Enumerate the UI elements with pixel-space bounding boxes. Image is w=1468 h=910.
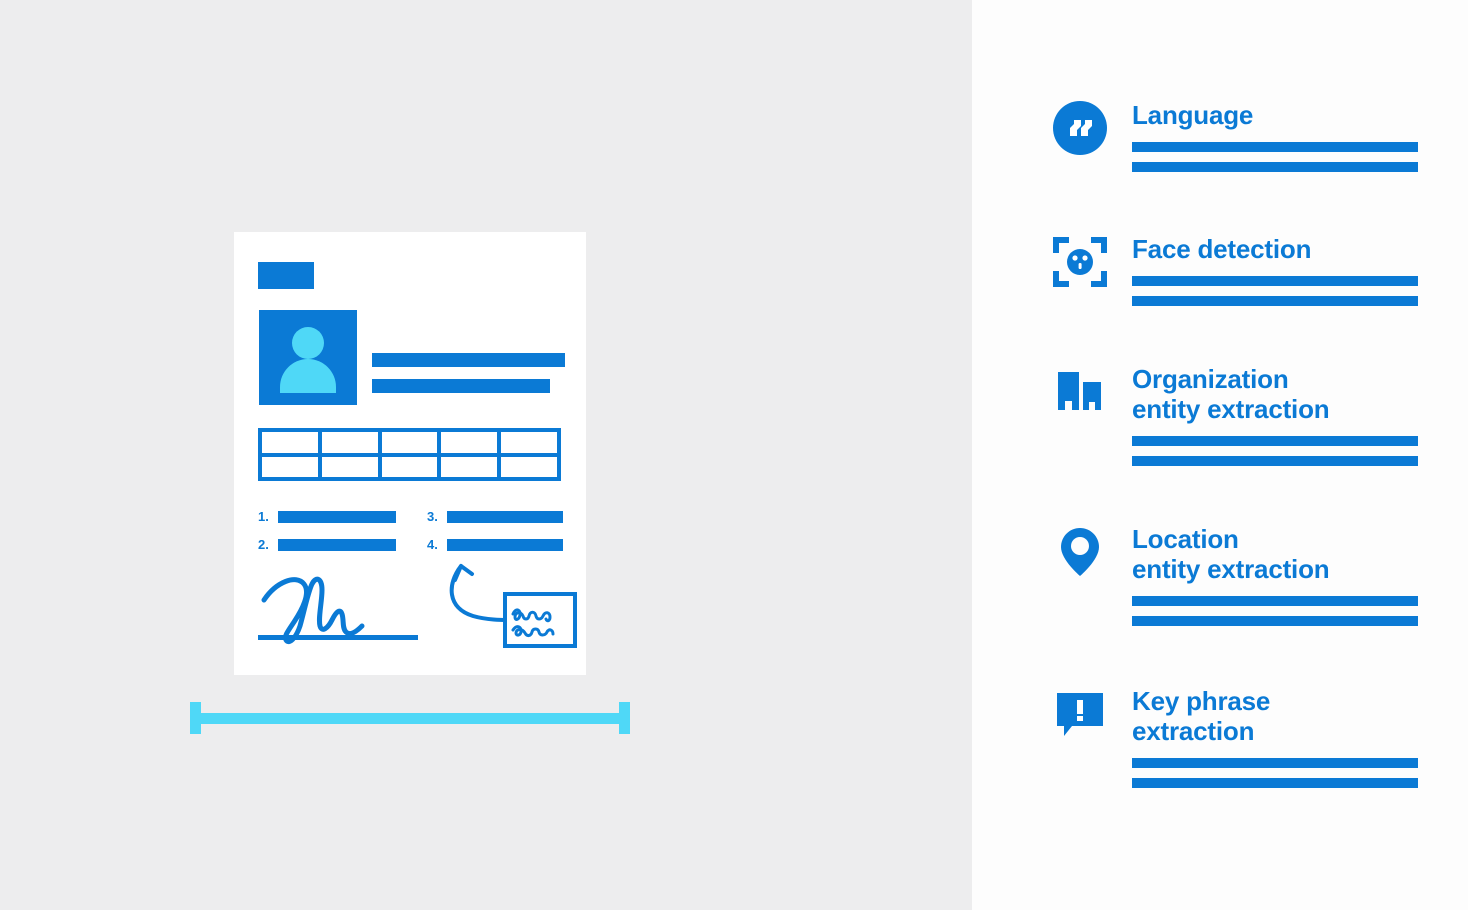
feature-line xyxy=(1132,436,1418,446)
feature-line xyxy=(1132,456,1418,466)
numbered-item-bar xyxy=(278,511,396,523)
numbered-item-bar xyxy=(278,539,396,551)
table-cell xyxy=(262,457,318,478)
table-cell xyxy=(441,457,497,478)
handwriting-stamp-icon xyxy=(439,550,579,660)
feature-body: Key phrase extraction xyxy=(1132,686,1422,788)
feature-placeholder-lines xyxy=(1132,276,1422,306)
numbered-item-3: 3. xyxy=(427,510,563,523)
table-cell xyxy=(441,432,497,453)
speech-bubble-exclamation-icon xyxy=(1052,686,1108,742)
feature-placeholder-lines xyxy=(1132,596,1422,626)
feature-line xyxy=(1132,778,1418,788)
quotation-marks-circle-icon xyxy=(1052,100,1108,156)
table-cell xyxy=(501,432,557,453)
signature-baseline xyxy=(258,635,418,640)
feature-line xyxy=(1132,616,1418,626)
feature-title: Organization entity extraction xyxy=(1132,364,1422,424)
feature-body: Organization entity extraction xyxy=(1132,364,1422,466)
feature-title: Face detection xyxy=(1132,234,1422,264)
feature-placeholder-lines xyxy=(1132,436,1422,466)
table-cell xyxy=(501,457,557,478)
numbered-item-label: 2. xyxy=(258,538,278,551)
feature-line xyxy=(1132,276,1418,286)
table-cell xyxy=(382,457,438,478)
document-name-line-2 xyxy=(372,379,550,393)
feature-line xyxy=(1132,758,1418,768)
feature-placeholder-lines xyxy=(1132,142,1422,172)
measure-cap-right xyxy=(619,702,630,734)
buildings-icon xyxy=(1052,364,1108,420)
document-table xyxy=(258,428,561,481)
feature-line xyxy=(1132,596,1418,606)
map-pin-icon xyxy=(1052,524,1108,580)
numbered-item-2: 2. xyxy=(258,538,396,551)
table-cell xyxy=(322,432,378,453)
document-card: 1. 2. 3. 4. xyxy=(234,232,586,675)
feature-line xyxy=(1132,296,1418,306)
feature-placeholder-lines xyxy=(1132,758,1422,788)
feature-line xyxy=(1132,142,1418,152)
document-logo-block xyxy=(258,262,314,289)
dimension-measure-bar-icon xyxy=(190,702,630,734)
numbered-item-label: 1. xyxy=(258,510,278,523)
illustration-canvas: 1. 2. 3. 4. xyxy=(0,0,1468,910)
feature-body: Language xyxy=(1132,100,1422,172)
feature-line xyxy=(1132,162,1418,172)
numbered-item-1: 1. xyxy=(258,510,396,523)
table-cell xyxy=(322,457,378,478)
face-detection-brackets-icon xyxy=(1052,234,1108,290)
numbered-item-label: 3. xyxy=(427,510,447,523)
feature-title: Key phrase extraction xyxy=(1132,686,1422,746)
document-photo xyxy=(259,310,357,405)
numbered-item-bar xyxy=(447,511,563,523)
person-avatar-body-icon xyxy=(280,359,336,393)
document-name-line-1 xyxy=(372,353,565,367)
feature-title: Language xyxy=(1132,100,1422,130)
feature-title: Location entity extraction xyxy=(1132,524,1422,584)
table-cell xyxy=(262,432,318,453)
person-avatar-icon xyxy=(292,327,324,359)
feature-body: Location entity extraction xyxy=(1132,524,1422,626)
table-cell xyxy=(382,432,438,453)
numbered-item-bar xyxy=(447,539,563,551)
measure-line xyxy=(190,713,630,724)
feature-body: Face detection xyxy=(1132,234,1422,306)
